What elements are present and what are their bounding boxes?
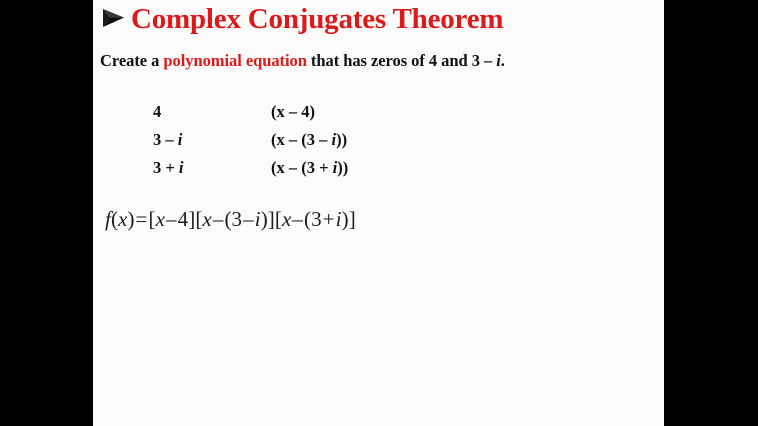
zero-text: 3 + [153,158,179,177]
equation-factor2-close: )] [261,207,275,231]
video-frame: Complex Conjugates Theorem Create a poly… [0,0,758,426]
slide-canvas: Complex Conjugates Theorem Create a poly… [93,0,664,426]
equation-factor1-number: 4 [178,207,189,231]
zero-imaginary-unit: i [178,130,183,149]
slide-subtitle: Create a polynomial equation that has ze… [100,51,505,71]
subtitle-accent-term: polynomial equation [163,51,306,70]
factor-suffix: )) [336,130,347,149]
equation-factor3-inner-operator: + [322,207,336,231]
factor-value: (x – (3 + i)) [271,158,431,186]
equation-factor2-inner: (3 [224,207,242,231]
equation-factor3-close: )] [342,207,356,231]
subtitle-part-3: . [501,51,505,70]
equation-close-paren: ) [127,207,134,231]
factor-value: (x – 4) [271,102,431,130]
table-row: 4 (x – 4) [153,102,431,130]
equation-equals-sign: = [135,207,149,231]
page-title: Complex Conjugates Theorem [131,4,503,34]
factor-suffix: )) [337,158,348,177]
zero-text: 3 – [153,130,178,149]
subtitle-part-1: Create a [100,51,163,70]
letterbox-bar-right [664,0,758,426]
equation-factor3-inner: (3 [304,207,322,231]
zeros-factors-table: 4 (x – 4) 3 – i (x – (3 – i)) 3 + i (x –… [153,102,431,186]
zero-value: 4 [153,102,271,130]
equation-factor2-operator: – [212,207,225,231]
zero-value: 3 – i [153,130,271,158]
equation-factor3-variable: x [282,207,291,231]
letterbox-bar-left [0,0,93,426]
polynomial-equation: f(x)=[x–4][x–(3–i)][x–(3+i)] [105,207,356,232]
equation-open-paren: ( [111,207,118,231]
zero-value: 3 + i [153,158,271,186]
zero-text: 4 [153,102,161,121]
factor-prefix: (x – 4) [271,102,315,121]
factor-value: (x – (3 – i)) [271,130,431,158]
slide-title-row: Complex Conjugates Theorem [101,4,661,34]
factor-prefix: (x – (3 – [271,130,332,149]
table-row: 3 + i (x – (3 + i)) [153,158,431,186]
factor-prefix: (x – (3 + [271,158,333,177]
equation-factor3-operator: – [291,207,304,231]
equation-factor1-operator: – [165,207,178,231]
equation-factor1-variable: x [156,207,165,231]
equation-factor1-open: [ [149,207,156,231]
zero-imaginary-unit: i [179,158,184,177]
table-row: 3 – i (x – (3 – i)) [153,130,431,158]
equation-factor3-open: [ [275,207,282,231]
equation-factor2-inner-operator: – [242,207,255,231]
arrow-bullet-icon [101,6,127,30]
equation-factor2-variable: x [202,207,211,231]
subtitle-part-2: that has zeros of 4 and 3 – [307,51,496,70]
